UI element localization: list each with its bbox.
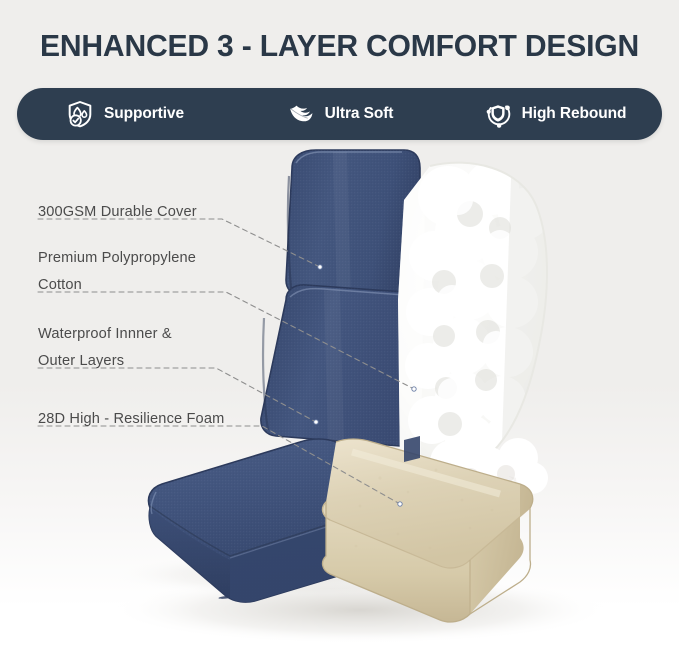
annotation-cotton: Premium Polypropylene Cotton xyxy=(38,245,196,299)
annotation-line: Premium Polypropylene xyxy=(38,245,196,272)
lumbar-fabric-layer xyxy=(261,285,420,446)
infographic-page: ENHANCED 3 - LAYER COMFORT DESIGN Suppor… xyxy=(0,0,679,660)
annotation-cover: 300GSM Durable Cover xyxy=(38,199,197,226)
annotation-line: Outer Layers xyxy=(38,348,172,375)
annotation-line: Waterproof Innner & xyxy=(38,321,172,348)
annotation-foam: 28D High - Resilience Foam xyxy=(38,406,224,433)
annotation-line: 28D High - Resilience Foam xyxy=(38,406,224,433)
annotation-layers: Waterproof Innner & Outer Layers xyxy=(38,321,172,375)
annotation-line: Cotton xyxy=(38,272,196,299)
annotation-line: 300GSM Durable Cover xyxy=(38,199,197,226)
